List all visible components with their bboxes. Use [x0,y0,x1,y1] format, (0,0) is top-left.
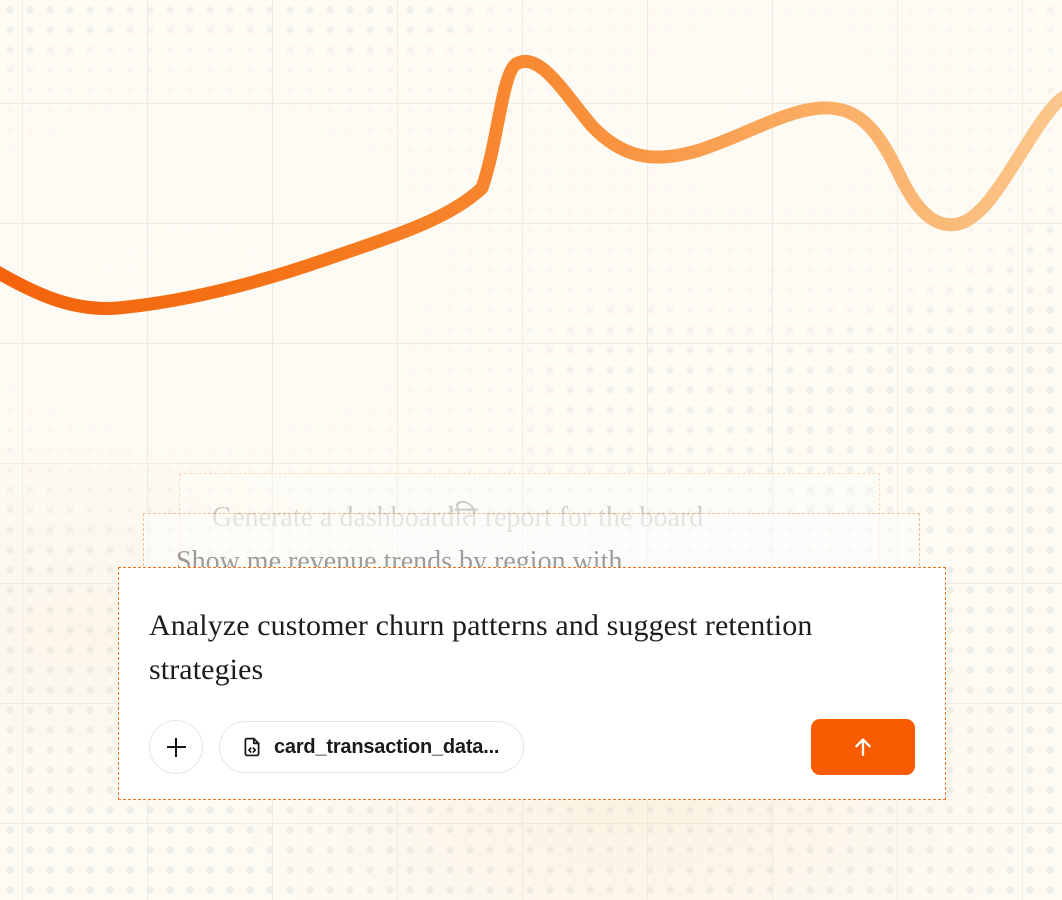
prompt-composer-card: Analyze customer churn patterns and sugg… [118,567,946,800]
plus-icon [167,738,186,757]
file-code-icon [241,736,263,758]
attachment-chip[interactable]: card_transaction_data... [219,721,524,773]
add-attachment-button[interactable] [149,720,203,774]
prompt-input[interactable]: Analyze customer churn patterns and sugg… [149,604,859,692]
prompt-card-stack: Generate a dashboardति report for the bo… [0,0,1062,900]
attachment-filename: card_transaction_data... [274,736,499,759]
app-canvas: Generate a dashboardति report for the bo… [0,0,1062,900]
composer-toolbar: card_transaction_data... [149,719,915,775]
arrow-up-icon [850,734,876,760]
send-prompt-button[interactable] [811,719,915,775]
